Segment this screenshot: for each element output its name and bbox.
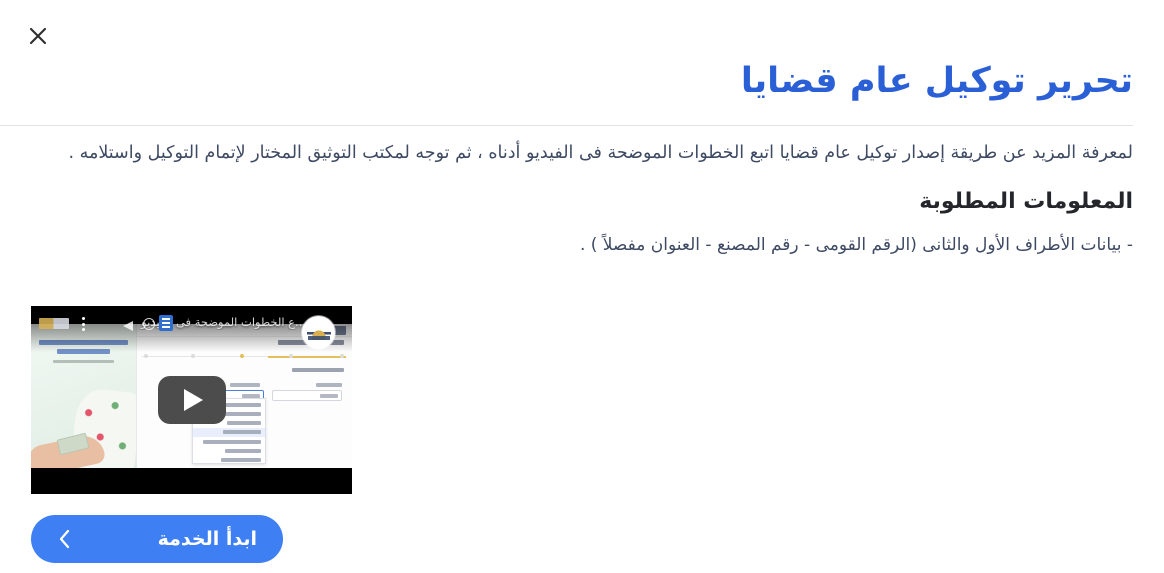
thumbnail-dropdown-option [203,440,261,444]
kebab-dot [82,328,85,331]
video-title: ...ع الخطوات الموضحة فى الفيديو [105,315,306,330]
thumbnail-field-value [320,394,338,398]
requirement-item: - بيانات الأطراف الأول والثانى (الرقم ال… [31,232,1133,258]
close-icon-glyph [28,26,48,46]
thumbnail-promo-line-2 [57,349,110,354]
play-triangle [184,389,203,411]
thumbnail-step-dot [191,354,195,358]
video-player[interactable]: ...ع الخطوات الموضحة فى الفيديو [31,306,352,494]
thumbnail-step-progress [268,356,346,358]
thumbnail-promo-panel [31,324,136,468]
thumbnail-dropdown-option [225,449,261,453]
header-divider [0,125,1133,126]
chevron-left-glyph [58,529,71,549]
kebab-dot [82,317,85,320]
thumbnail-field-governorate [272,390,342,401]
thumbnail-promo-line-1 [39,340,128,345]
thumbnail-promo-illustration [34,382,134,468]
share-icon[interactable] [123,318,135,330]
youtube-icon[interactable] [159,315,173,331]
channel-logo-icon [39,318,69,329]
thumbnail-step-dot [289,354,293,358]
thumbnail-field-label-office [230,383,260,387]
close-icon[interactable] [22,20,54,52]
thumbnail-dropdown-option [227,421,261,425]
service-detail-modal: تحرير توكيل عام قضايا لمعرفة المزيد عن ط… [0,0,1164,573]
thumbnail-dropdown-option [221,458,261,462]
page-title: تحرير توكيل عام قضايا [31,62,1133,101]
thumbnail-form-subtitle [292,368,344,372]
required-info-heading: المعلومات المطلوبة [31,188,1133,217]
start-service-label: ابدأ الخدمة [75,528,261,550]
thumbnail-dropdown-option [223,430,261,434]
thumbnail-panel-divider [136,324,137,468]
thumbnail-step-dot [240,354,244,358]
start-service-button[interactable]: ابدأ الخدمة [31,515,283,563]
thumbnail-stepper [142,354,346,360]
channel-name-strip[interactable] [39,318,69,329]
kebab-dot [82,323,85,326]
play-icon[interactable] [158,376,226,424]
thumbnail-field-label-governorate [316,383,342,387]
chevron-left-icon [53,529,75,549]
thumbnail-promo-line-3 [53,360,114,363]
intro-paragraph: لمعرفة المزيد عن طريقة إصدار توكيل عام ق… [31,140,1133,167]
channel-avatar-mark [307,325,331,340]
watch-later-icon[interactable] [143,318,155,330]
more-options-icon[interactable] [77,315,89,333]
thumbnail-step-dot [144,354,148,358]
thumbnail-step-dot [340,354,344,358]
channel-avatar-icon[interactable] [302,316,335,349]
